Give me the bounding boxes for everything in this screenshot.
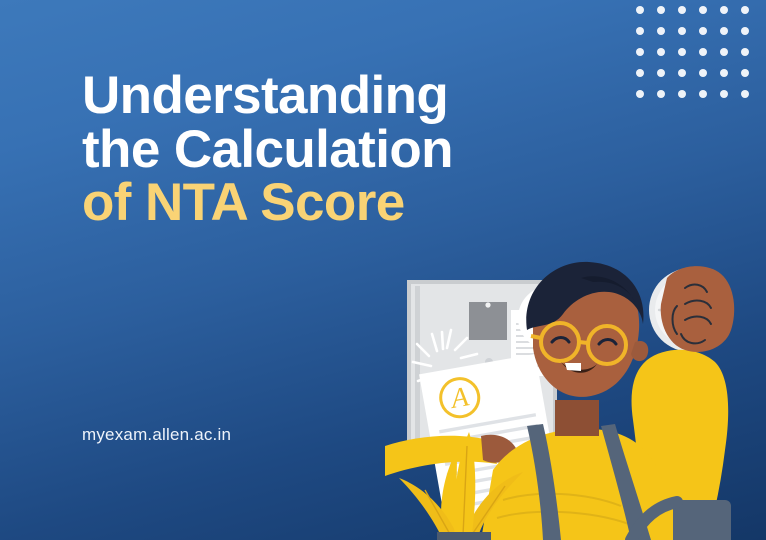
dot	[678, 27, 686, 35]
dot	[741, 27, 749, 35]
dot	[699, 90, 707, 98]
dot	[699, 48, 707, 56]
dot	[741, 90, 749, 98]
dot	[657, 69, 665, 77]
dot	[741, 48, 749, 56]
dot-grid-decoration	[636, 6, 762, 111]
dot	[636, 90, 644, 98]
dot	[657, 48, 665, 56]
dot	[678, 69, 686, 77]
dot	[741, 6, 749, 14]
dot	[699, 27, 707, 35]
title-line-2: the Calculation	[82, 123, 453, 176]
banner-root: Understanding the Calculation of NTA Sco…	[0, 0, 766, 540]
dot	[720, 48, 728, 56]
dot	[657, 90, 665, 98]
dot	[699, 69, 707, 77]
dot	[636, 6, 644, 14]
dot	[678, 90, 686, 98]
head	[526, 262, 648, 397]
dot	[678, 6, 686, 14]
dot	[741, 69, 749, 77]
dot	[636, 27, 644, 35]
dot	[720, 6, 728, 14]
title-line-1: Understanding	[82, 69, 453, 122]
neck	[555, 400, 599, 436]
dot	[720, 69, 728, 77]
page-title: Understanding the Calculation of NTA Sco…	[82, 69, 453, 229]
site-url-label: myexam.allen.ac.in	[82, 425, 231, 445]
hero-illustration: A	[385, 250, 766, 540]
dot	[636, 69, 644, 77]
dot	[657, 6, 665, 14]
dot	[699, 6, 707, 14]
dot	[720, 90, 728, 98]
title-line-3: of NTA Score	[82, 176, 453, 229]
teeth	[565, 363, 581, 371]
dot	[678, 48, 686, 56]
raised-fist	[661, 266, 734, 352]
dot	[636, 48, 644, 56]
dot	[657, 27, 665, 35]
pinned-photo	[469, 302, 507, 340]
dot	[720, 27, 728, 35]
